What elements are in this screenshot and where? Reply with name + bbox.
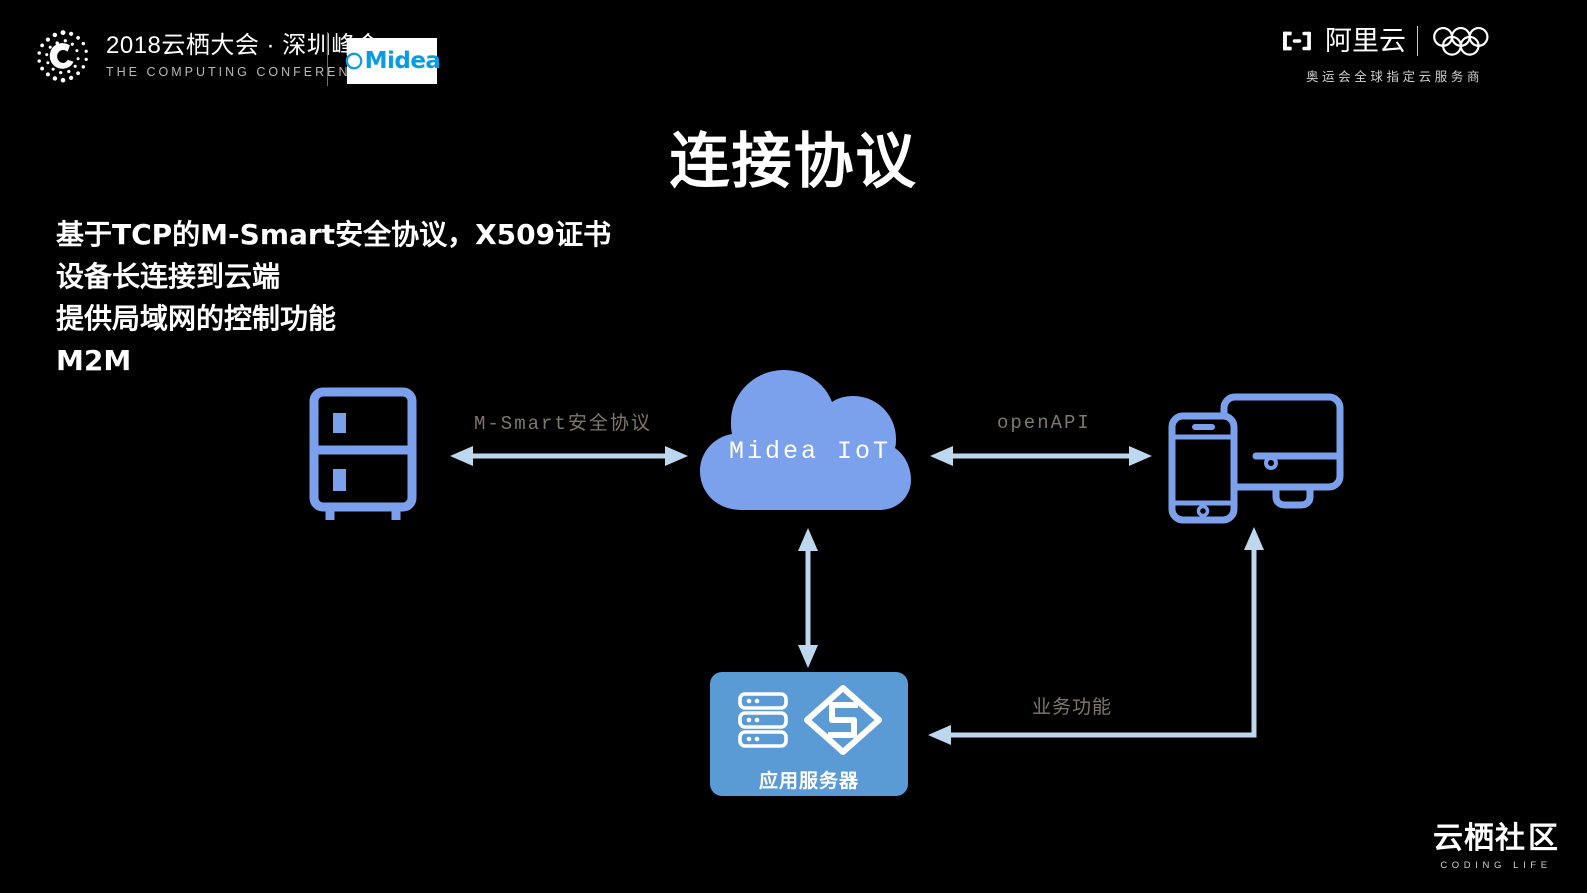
monitor-power-dot-icon [1266, 458, 1276, 468]
footer-logo-cn-accent: 区 [1528, 824, 1559, 854]
edge-label-business-function: 业务功能 [1032, 692, 1112, 719]
edge-label-msmart: M-Smart安全协议 [474, 408, 652, 435]
footer-logo-cn-main: 云栖社 [1433, 824, 1526, 854]
yunqi-community-logo: 云栖社 区 CODING LIFE [1433, 824, 1559, 871]
phone-icon [1172, 416, 1234, 520]
edge-cloud-appserver-arrow [798, 528, 818, 668]
architecture-diagram: M-Smart安全协议 openAPI 业务功能 Midea IoT 应用服务器 [0, 0, 1587, 893]
edge-msmart-arrow [450, 446, 688, 466]
monitor-icon [1224, 397, 1340, 505]
edge-openapi-arrow [930, 446, 1152, 466]
footer-logo-en: CODING LIFE [1433, 860, 1559, 871]
app-server-node-label: 应用服务器 [710, 766, 908, 793]
server-rack-icon [314, 392, 412, 520]
slide-canvas: 2018云栖大会 · 深圳峰会 THE COMPUTING CONFERENCE… [0, 0, 1587, 893]
cloud-node-label: Midea IoT [712, 437, 908, 466]
edge-label-openapi: openAPI [997, 412, 1091, 434]
footer-logo-cn: 云栖社 区 [1433, 824, 1559, 854]
